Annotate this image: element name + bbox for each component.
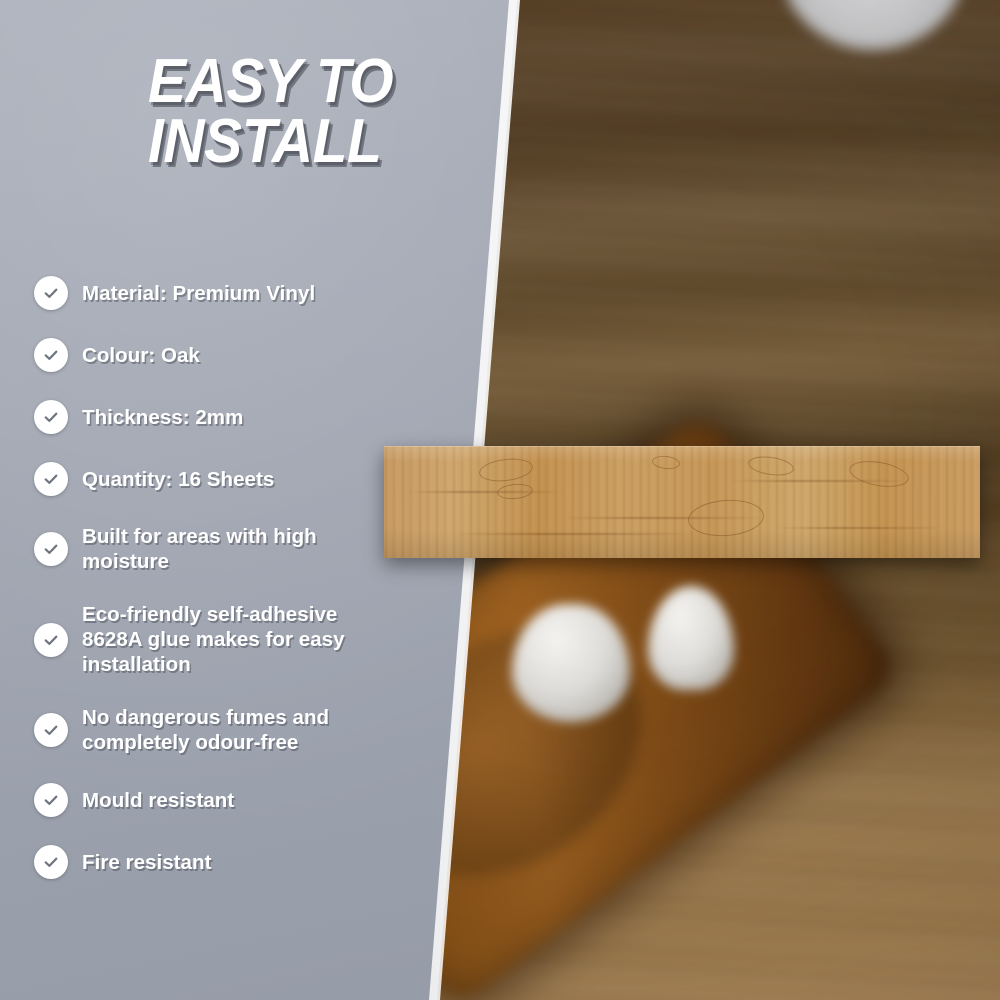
list-item-label: Built for areas with high moisture [82, 524, 317, 574]
plank-knot [687, 497, 765, 538]
plank-grain-streak [456, 533, 694, 535]
check-circle-icon [34, 400, 68, 434]
list-item: No dangerous fumes and completely odour-… [0, 705, 420, 755]
check-circle-icon [34, 532, 68, 566]
list-item: Material: Premium Vinyl [0, 276, 420, 310]
plank-grain-streak [408, 491, 563, 493]
plank-knot [847, 457, 910, 491]
plank-knot [497, 483, 534, 501]
plank-knot [652, 455, 681, 471]
check-circle-icon [34, 462, 68, 496]
list-item: Eco-friendly self-adhesive 8628A glue ma… [0, 602, 420, 677]
plank-knot [747, 454, 795, 478]
list-item-label: Colour: Oak [82, 343, 200, 368]
list-item-label: Eco-friendly self-adhesive 8628A glue ma… [82, 602, 345, 677]
list-item: Fire resistant [0, 845, 420, 879]
list-item-label: Quantity: 16 Sheets [82, 467, 274, 492]
feature-list: Material: Premium Vinyl Colour: Oak Thic… [0, 276, 420, 879]
check-circle-icon [34, 623, 68, 657]
list-item-label: Fire resistant [82, 850, 211, 875]
product-feature-infographic: EASY TO INSTALL Material: Premium Vinyl … [0, 0, 1000, 1000]
plank-knot [478, 456, 534, 484]
page-title: EASY TO INSTALL [148, 52, 452, 172]
check-circle-icon [34, 276, 68, 310]
list-item: Built for areas with high moisture [0, 524, 420, 574]
list-item: Mould resistant [0, 783, 420, 817]
list-item-label: Material: Premium Vinyl [82, 281, 315, 306]
check-circle-icon [34, 783, 68, 817]
plank-grain-streak [777, 527, 944, 529]
list-item: Colour: Oak [0, 338, 420, 372]
list-item: Quantity: 16 Sheets [0, 462, 420, 496]
check-circle-icon [34, 845, 68, 879]
vinyl-plank-product [384, 446, 980, 558]
check-circle-icon [34, 338, 68, 372]
list-item-label: Thickness: 2mm [82, 405, 243, 430]
list-item-label: Mould resistant [82, 788, 234, 813]
check-circle-icon [34, 713, 68, 747]
list-item-label: No dangerous fumes and completely odour-… [82, 705, 329, 755]
list-item: Thickness: 2mm [0, 400, 420, 434]
